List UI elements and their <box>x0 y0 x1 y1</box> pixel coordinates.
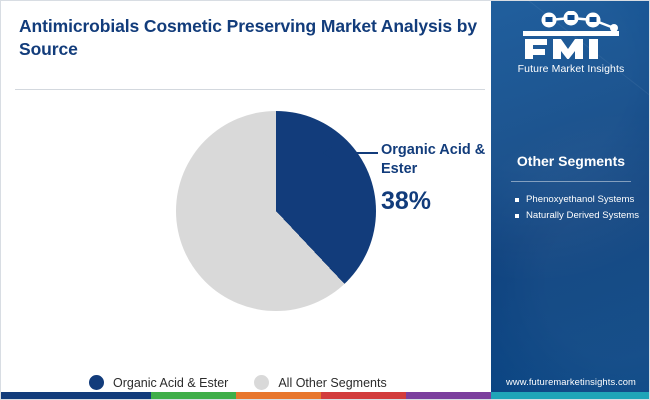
bottom-bar-segment <box>321 392 406 399</box>
other-segments-divider <box>511 181 631 182</box>
list-item: Naturally Derived Systems <box>515 209 643 222</box>
brand-sidebar: Future Market Insights Other Segments Ph… <box>491 1 650 400</box>
other-segments-title: Other Segments <box>491 153 650 169</box>
chart-panel: Antimicrobials Cosmetic Preserving Marke… <box>1 1 491 400</box>
website-url[interactable]: www.futuremarketinsights.com <box>491 376 650 387</box>
title-divider <box>15 89 485 90</box>
pie-chart-slices <box>176 111 376 311</box>
chart-legend: Organic Acid & Ester All Other Segments <box>89 375 387 390</box>
page-title: Antimicrobials Cosmetic Preserving Marke… <box>19 15 479 61</box>
list-item: Phenoxyethanol Systems <box>515 193 643 206</box>
callout-leader-line <box>330 152 378 154</box>
bottom-bar-segment <box>491 392 650 399</box>
pie-chart <box>176 111 376 311</box>
bottom-bar-segment <box>236 392 321 399</box>
legend-item: Organic Acid & Ester <box>89 375 228 390</box>
legend-item-label: All Other Segments <box>278 376 386 390</box>
callout-value: 38% <box>381 187 431 216</box>
bottom-bar-segment <box>406 392 491 399</box>
legend-color-swatch <box>254 375 269 390</box>
legend-color-swatch <box>89 375 104 390</box>
bottom-bar-segment <box>1 392 151 399</box>
bottom-color-bar <box>1 392 650 399</box>
other-segments-list: Phenoxyethanol Systems Naturally Derived… <box>515 193 643 226</box>
legend-item-label: Organic Acid & Ester <box>113 376 228 390</box>
fmi-tagline: Future Market Insights <box>491 63 650 75</box>
infographic-page: Antimicrobials Cosmetic Preserving Marke… <box>0 0 650 400</box>
fmi-logo-icon <box>513 11 629 59</box>
bottom-bar-segment <box>151 392 236 399</box>
legend-item: All Other Segments <box>254 375 386 390</box>
callout-label: Organic Acid & Ester <box>381 141 486 179</box>
fmi-logo: Future Market Insights <box>491 11 650 75</box>
